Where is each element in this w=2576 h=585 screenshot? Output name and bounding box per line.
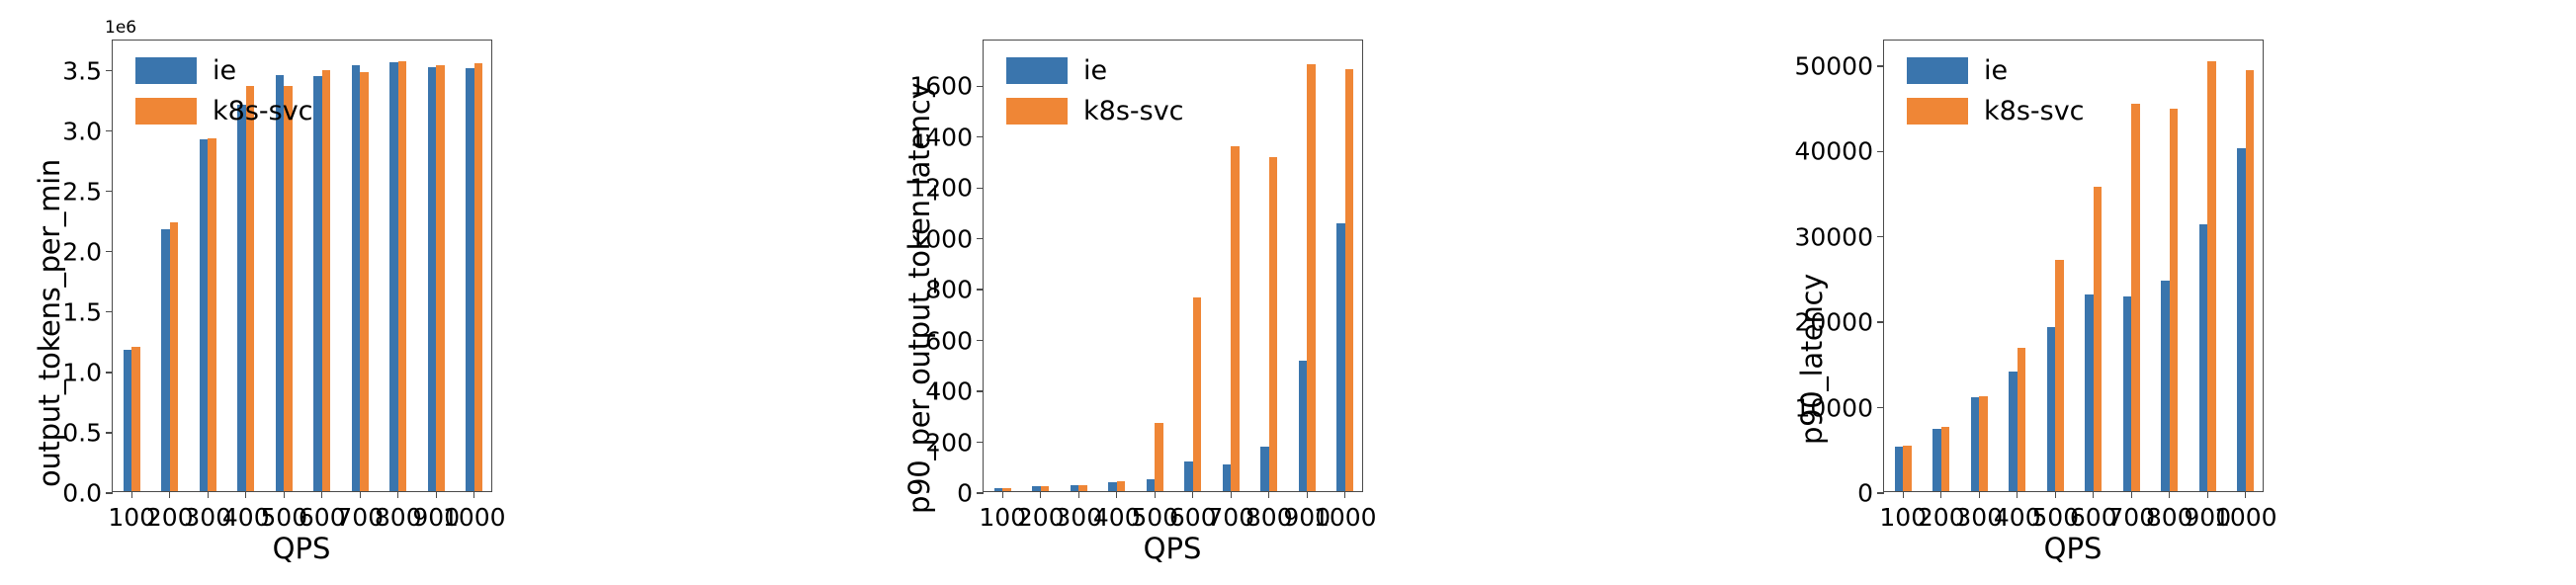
x-axis-tick-mark xyxy=(1040,491,1041,498)
bar-k8s-svc-500 xyxy=(2055,260,2063,491)
x-axis-tick-mark xyxy=(321,491,322,498)
bar-ie-200 xyxy=(1032,486,1040,491)
x-axis-tick-mark xyxy=(131,491,132,498)
x-axis-tick-mark xyxy=(436,491,437,498)
bar-ie-800 xyxy=(389,62,397,491)
x-axis-tick-mark xyxy=(2093,491,2094,498)
x-axis-label: QPS xyxy=(222,532,381,565)
bar-ie-100 xyxy=(1895,447,1903,491)
bar-ie-200 xyxy=(1932,429,1940,492)
x-axis-tick-mark xyxy=(2017,491,2018,498)
bar-ie-700 xyxy=(2123,296,2131,491)
x-axis-tick-label: 1000 xyxy=(1314,503,1377,532)
bar-ie-700 xyxy=(352,65,360,491)
y-axis-label: p90_per_output_token_latency xyxy=(902,83,936,514)
legend-label: k8s-svc xyxy=(1083,98,1184,125)
bar-ie-600 xyxy=(2085,294,2093,491)
bar-ie-400 xyxy=(2009,372,2017,491)
bar-k8s-svc-400 xyxy=(1117,481,1125,491)
y-axis-tick-mark xyxy=(977,442,984,443)
bar-k8s-svc-900 xyxy=(436,65,444,491)
y-axis-tick-mark xyxy=(106,432,113,433)
x-axis-tick-mark xyxy=(1979,491,1980,498)
x-axis-label: QPS xyxy=(1093,532,1251,565)
multi-panel-bar-chart-figure: 0.00.51.01.52.02.53.03.51002003004005006… xyxy=(0,0,2576,585)
bar-k8s-svc-200 xyxy=(1041,486,1049,491)
x-axis-tick-mark xyxy=(1116,491,1117,498)
bar-ie-300 xyxy=(1971,397,1979,491)
bar-k8s-svc-300 xyxy=(208,138,215,491)
bar-ie-1000 xyxy=(1336,223,1344,491)
bar-ie-900 xyxy=(2199,224,2207,491)
x-axis-tick-mark xyxy=(1155,491,1156,498)
bar-k8s-svc-900 xyxy=(1307,64,1315,491)
bar-k8s-svc-300 xyxy=(1979,396,1987,491)
y-axis-tick-mark xyxy=(977,390,984,391)
y-axis-tick-mark xyxy=(977,86,984,87)
y-axis-tick-mark xyxy=(1877,492,1884,493)
y-axis-tick-mark xyxy=(1877,407,1884,408)
legend: iek8s-svc xyxy=(135,57,313,125)
bar-ie-700 xyxy=(1223,464,1231,491)
bar-ie-1000 xyxy=(2237,148,2245,491)
legend-entry-ie[interactable]: ie xyxy=(1907,57,2085,84)
x-axis-tick-mark xyxy=(397,491,398,498)
x-axis-tick-label: 1000 xyxy=(443,503,506,532)
x-axis-tick-mark xyxy=(208,491,209,498)
x-axis-tick-mark xyxy=(284,491,285,498)
bar-ie-600 xyxy=(313,76,321,491)
x-axis-tick-mark xyxy=(473,491,474,498)
legend-label: k8s-svc xyxy=(213,98,313,125)
x-axis-tick-mark xyxy=(2207,491,2208,498)
bar-ie-800 xyxy=(1260,447,1268,491)
bar-k8s-svc-700 xyxy=(360,72,368,491)
y-axis-tick-mark xyxy=(977,340,984,341)
bar-k8s-svc-800 xyxy=(2170,109,2178,491)
x-axis-tick-mark xyxy=(245,491,246,498)
bar-k8s-svc-400 xyxy=(2018,348,2025,491)
bar-ie-300 xyxy=(200,139,208,491)
bar-k8s-svc-800 xyxy=(398,61,406,491)
legend: iek8s-svc xyxy=(1006,57,1184,125)
x-axis-tick-mark xyxy=(1231,491,1232,498)
y-axis-tick-mark xyxy=(1877,151,1884,152)
bar-k8s-svc-100 xyxy=(1903,446,1911,491)
legend-entry-k8s-svc[interactable]: k8s-svc xyxy=(135,98,313,125)
x-axis-tick-mark xyxy=(360,491,361,498)
legend-swatch-k8s-svc xyxy=(135,98,197,125)
bar-k8s-svc-200 xyxy=(170,222,178,491)
y-axis-tick-label: 50000 xyxy=(1794,51,1884,80)
legend-swatch-k8s-svc xyxy=(1907,98,1968,125)
legend-swatch-k8s-svc xyxy=(1006,98,1068,125)
legend-entry-ie[interactable]: ie xyxy=(1006,57,1184,84)
x-axis-tick-mark xyxy=(1268,491,1269,498)
y-axis-tick-mark xyxy=(977,492,984,493)
bar-ie-200 xyxy=(161,229,169,491)
bar-k8s-svc-600 xyxy=(2094,187,2102,491)
bar-k8s-svc-600 xyxy=(1193,297,1201,491)
bar-k8s-svc-100 xyxy=(1002,488,1010,491)
y-axis-offset-text: 1e6 xyxy=(105,18,136,38)
bar-k8s-svc-600 xyxy=(322,70,330,491)
bar-ie-300 xyxy=(1071,485,1078,491)
y-axis-tick-mark xyxy=(1877,65,1884,66)
bar-k8s-svc-700 xyxy=(1231,146,1239,491)
x-axis-tick-mark xyxy=(1344,491,1345,498)
legend-label: ie xyxy=(213,57,236,84)
x-axis-tick-mark xyxy=(1078,491,1079,498)
x-axis-tick-mark xyxy=(169,491,170,498)
bar-ie-800 xyxy=(2161,281,2169,491)
bar-k8s-svc-1000 xyxy=(474,63,482,491)
bar-k8s-svc-900 xyxy=(2207,61,2215,491)
y-axis-tick-mark xyxy=(106,492,113,493)
y-axis-tick-mark xyxy=(106,191,113,192)
bar-k8s-svc-500 xyxy=(284,86,292,491)
legend-swatch-ie xyxy=(1006,57,1068,84)
y-axis-tick-mark xyxy=(977,238,984,239)
x-axis-tick-mark xyxy=(1002,491,1003,498)
x-axis-tick-mark xyxy=(1940,491,1941,498)
bar-k8s-svc-1000 xyxy=(1345,69,1353,491)
y-axis-tick-mark xyxy=(106,372,113,373)
bar-k8s-svc-300 xyxy=(1078,485,1086,491)
bar-ie-100 xyxy=(124,350,131,491)
bar-ie-500 xyxy=(276,75,284,491)
bar-k8s-svc-1000 xyxy=(2246,70,2254,491)
y-axis-tick-mark xyxy=(106,311,113,312)
bar-k8s-svc-500 xyxy=(1155,423,1162,491)
y-axis-label: output_tokens_per_min xyxy=(33,159,66,487)
x-axis-tick-mark xyxy=(2055,491,2056,498)
bar-ie-900 xyxy=(428,67,436,491)
y-axis-tick-mark xyxy=(977,289,984,290)
x-axis-tick-mark xyxy=(1903,491,1904,498)
bar-ie-500 xyxy=(2047,327,2055,491)
bar-k8s-svc-400 xyxy=(246,86,254,491)
bar-ie-400 xyxy=(237,105,245,491)
bar-ie-100 xyxy=(994,488,1002,491)
y-axis-label: p90_latency xyxy=(1795,274,1829,445)
legend-label: ie xyxy=(1984,57,2008,84)
y-axis-tick-mark xyxy=(106,130,113,131)
legend-swatch-ie xyxy=(135,57,197,84)
bar-k8s-svc-700 xyxy=(2131,104,2139,491)
legend-entry-k8s-svc[interactable]: k8s-svc xyxy=(1006,98,1184,125)
bar-ie-900 xyxy=(1299,361,1307,491)
bar-k8s-svc-800 xyxy=(1269,157,1277,491)
bar-ie-500 xyxy=(1147,479,1155,491)
x-axis-tick-mark xyxy=(2131,491,2132,498)
bar-ie-600 xyxy=(1184,461,1192,491)
y-axis-tick-mark xyxy=(977,188,984,189)
y-axis-tick-mark xyxy=(977,136,984,137)
bar-k8s-svc-100 xyxy=(131,347,139,491)
bar-k8s-svc-200 xyxy=(1941,427,1949,491)
x-axis-tick-mark xyxy=(2245,491,2246,498)
legend: iek8s-svc xyxy=(1907,57,2085,125)
bar-ie-1000 xyxy=(466,68,473,491)
bar-ie-400 xyxy=(1108,482,1116,491)
legend-label: k8s-svc xyxy=(1984,98,2085,125)
y-axis-tick-mark xyxy=(1877,236,1884,237)
y-axis-tick-mark xyxy=(106,251,113,252)
y-axis-tick-label: 30000 xyxy=(1794,222,1884,251)
legend-entry-ie[interactable]: ie xyxy=(135,57,313,84)
x-axis-tick-mark xyxy=(2169,491,2170,498)
x-axis-tick-label: 1000 xyxy=(2214,503,2277,532)
x-axis-tick-mark xyxy=(1307,491,1308,498)
legend-swatch-ie xyxy=(1907,57,1968,84)
y-axis-tick-mark xyxy=(106,70,113,71)
legend-entry-k8s-svc[interactable]: k8s-svc xyxy=(1907,98,2085,125)
x-axis-tick-mark xyxy=(1192,491,1193,498)
legend-label: ie xyxy=(1083,57,1107,84)
y-axis-tick-mark xyxy=(1877,321,1884,322)
y-axis-tick-label: 40000 xyxy=(1794,137,1884,166)
x-axis-label: QPS xyxy=(1994,532,2152,565)
